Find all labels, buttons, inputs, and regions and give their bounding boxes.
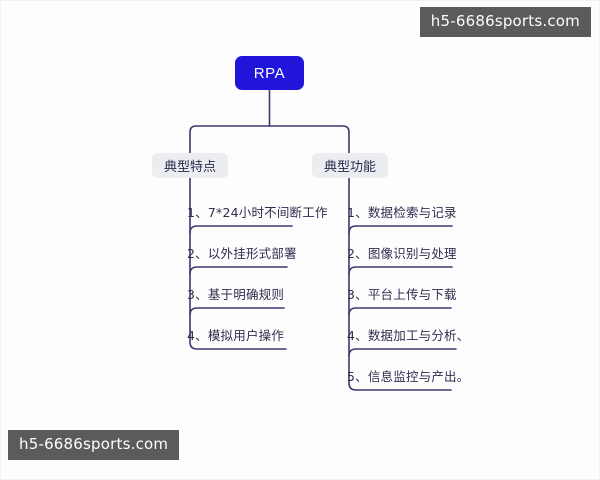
branch-1-rule-1 xyxy=(349,267,452,274)
branch-0-rule-1 xyxy=(190,267,287,274)
branch-header-label: 典型功能 xyxy=(324,156,376,175)
list-item-label: 4、数据加工与分析、 xyxy=(347,325,469,344)
list-item-label: 1、数据检索与记录 xyxy=(347,202,457,221)
root-node-rpa[interactable]: RPA xyxy=(235,56,304,90)
list-item[interactable]: 1、数据检索与记录 xyxy=(347,201,457,221)
root-node-label: RPA xyxy=(254,65,286,82)
list-item[interactable]: 5、信息监控与产出。 xyxy=(347,365,469,385)
branch-1-rule-2 xyxy=(349,308,451,315)
watermark-bottom-left: h5-6686sports.com xyxy=(8,430,179,460)
list-item[interactable]: 2、以外挂形式部署 xyxy=(187,242,297,262)
list-item-label: 3、基于明确规则 xyxy=(187,284,284,303)
list-item-label: 5、信息监控与产出。 xyxy=(347,366,469,385)
branch-header-typical-functions[interactable]: 典型功能 xyxy=(312,153,388,178)
list-item[interactable]: 3、平台上传与下载 xyxy=(347,283,457,303)
list-item-label: 2、以外挂形式部署 xyxy=(187,243,297,262)
branch-header-label: 典型特点 xyxy=(164,156,216,175)
list-item-label: 3、平台上传与下载 xyxy=(347,284,457,303)
list-item-label: 2、图像识别与处理 xyxy=(347,243,457,262)
branch-0-rule-0 xyxy=(190,226,292,233)
watermark-top-right: h5-6686sports.com xyxy=(420,7,591,37)
list-item[interactable]: 4、数据加工与分析、 xyxy=(347,324,469,344)
branch-1-rule-0 xyxy=(349,226,452,233)
list-item[interactable]: 1、7*24小时不间断工作 xyxy=(187,201,328,221)
list-item[interactable]: 3、基于明确规则 xyxy=(187,283,284,303)
list-item-label: 4、模拟用户操作 xyxy=(187,325,284,344)
list-item-label: 1、7*24小时不间断工作 xyxy=(187,202,328,221)
branch-header-typical-features[interactable]: 典型特点 xyxy=(152,153,228,178)
branch-1-rule-3 xyxy=(349,349,456,356)
list-item[interactable]: 4、模拟用户操作 xyxy=(187,324,284,344)
branch-0-rule-2 xyxy=(190,308,284,315)
diagram-canvas: RPA 典型特点 典型功能 1、7*24小时不间断工作 2、以外挂形式部署 3、… xyxy=(0,0,600,480)
branch-bracket xyxy=(190,126,349,153)
list-item[interactable]: 2、图像识别与处理 xyxy=(347,242,457,262)
